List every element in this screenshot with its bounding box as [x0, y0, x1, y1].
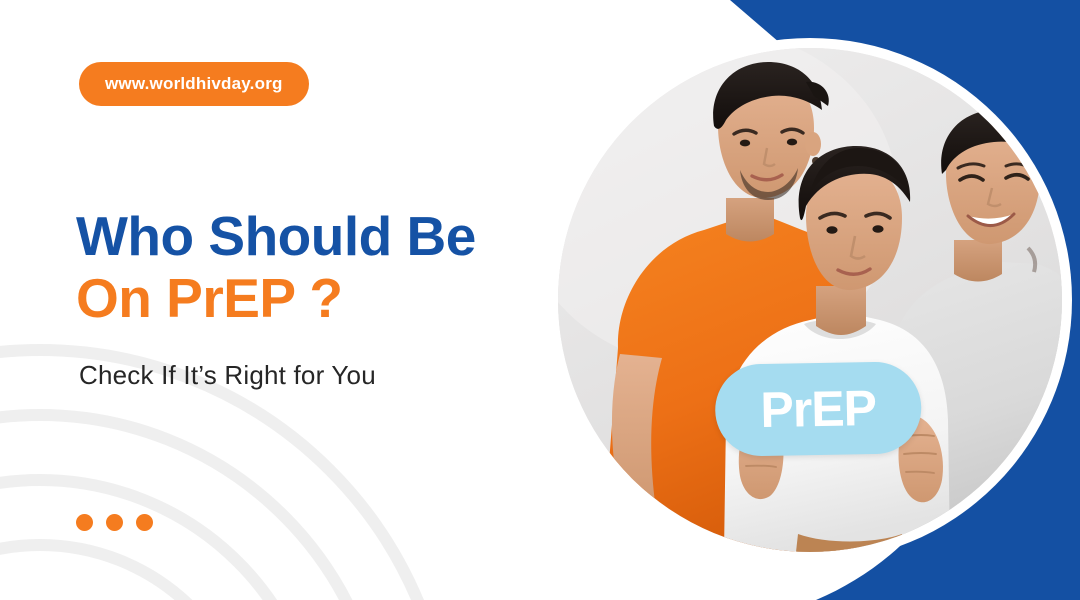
prep-placard: PrEP [714, 361, 922, 457]
three-dots-decoration [76, 514, 153, 531]
website-url-badge[interactable]: www.worldhivday.org [79, 62, 309, 106]
prep-placard-label: PrEP [760, 383, 876, 435]
three-men-group-photo: PrEP [558, 48, 1062, 552]
page-subtitle: Check If It’s Right for You [79, 360, 376, 391]
headline-line-2: On PrEP ? [76, 268, 546, 330]
website-url-label: www.worldhivday.org [105, 74, 283, 94]
dot-1 [76, 514, 93, 531]
headline-line-1: Who Should Be [76, 206, 546, 268]
page-title: Who Should Be On PrEP ? [76, 206, 546, 329]
banner-canvas: www.worldhivday.org Who Should Be On PrE… [0, 0, 1080, 600]
dot-3 [136, 514, 153, 531]
dot-2 [106, 514, 123, 531]
photo-white-ring: PrEP [548, 38, 1072, 562]
